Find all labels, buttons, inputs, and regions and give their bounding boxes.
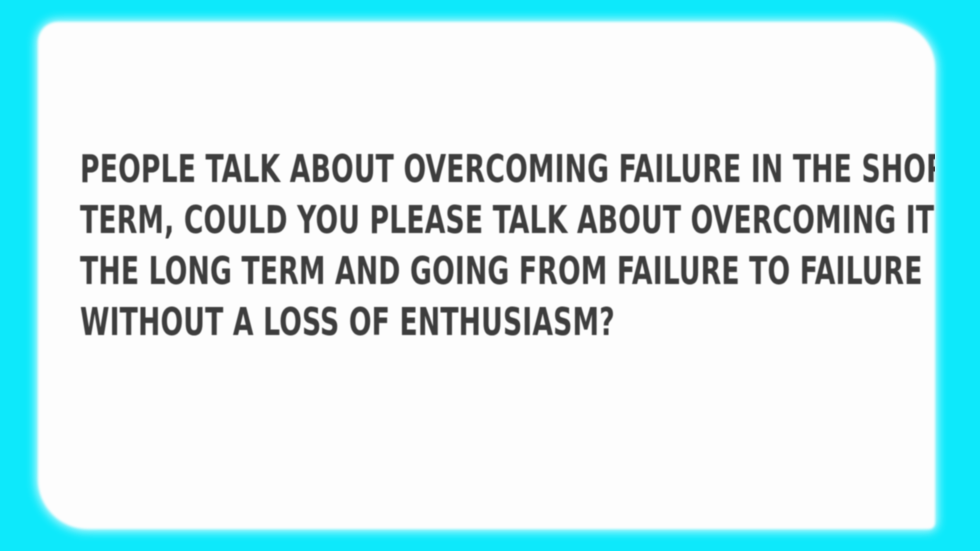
question-text-block: PEOPLE TALK ABOUT OVERCOMING FAILURE IN … <box>80 144 892 348</box>
question-line-1: PEOPLE TALK ABOUT OVERCOMING FAILURE IN … <box>80 144 713 195</box>
question-card-content: PEOPLE TALK ABOUT OVERCOMING FAILURE IN … <box>38 22 935 529</box>
question-line-3: THE LONG TERM AND GOING FROM FAILURE TO … <box>80 246 713 297</box>
question-line-4: WITHOUT A LOSS OF ENTHUSIASM? <box>80 297 713 348</box>
question-line-2: TERM, COULD YOU PLEASE TALK ABOUT OVERCO… <box>80 195 713 246</box>
slide-canvas: PEOPLE TALK ABOUT OVERCOMING FAILURE IN … <box>0 0 980 551</box>
